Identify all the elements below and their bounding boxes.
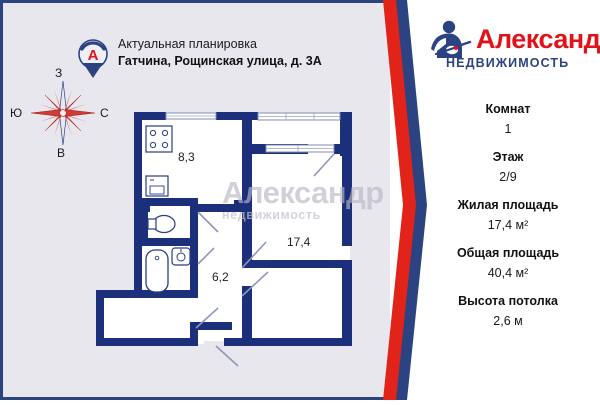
listing-header: Актуальная планировка Гатчина, Рощинская… [118,36,368,70]
spec-living-area: Жилая площадь 17,4 м² [420,196,596,235]
spec-label-floor: Этаж [420,148,596,167]
compass-rose-icon [30,80,96,146]
spec-label-ceiling-height: Высота потолка [420,292,596,311]
room-area-hall: 6,2 [212,270,229,284]
spec-label-living-area: Жилая площадь [420,196,596,215]
spec-value-ceiling-height: 2,6 м [420,311,596,331]
sink-icon [146,176,168,196]
logo-subtitle: НЕДВИЖИМОСТЬ [446,56,569,70]
bathtub-icon [146,250,168,292]
spec-value-floor: 2/9 [420,167,596,187]
washbasin-icon [172,248,190,265]
floor-plan-listing: A З Ю С В [0,0,600,400]
property-specs: Комнат 1 Этаж 2/9 Жилая площадь 17,4 м² … [420,100,596,340]
spec-value-total-area: 40,4 м² [420,263,596,283]
spec-total-area: Общая площадь 40,4 м² [420,244,596,283]
compass-label-west: Ю [10,106,22,120]
floor-plan: 8,3 17,4 6,2 [90,100,380,385]
spec-label-rooms: Комнат [420,100,596,119]
spec-ceiling-height: Высота потолка 2,6 м [420,292,596,331]
spec-value-rooms: 1 [420,119,596,139]
company-logo: Александр НЕДВИЖИМОСТЬ [424,18,590,80]
header-address: Гатчина, Рощинская улица, д. 3А [118,53,368,70]
room-area-kitchen: 8,3 [178,150,195,164]
compass-label-south: В [57,146,65,160]
room-area-living-room: 17,4 [287,235,310,249]
header-subtitle: Актуальная планировка [118,36,368,53]
spec-floor: Этаж 2/9 [420,148,596,187]
stove-icon [146,126,172,152]
spec-value-living-area: 17,4 м² [420,215,596,235]
spec-rooms: Комнат 1 [420,100,596,139]
logo-name: Александр [476,24,600,54]
compass-label-north: З [55,66,62,80]
spec-label-total-area: Общая площадь [420,244,596,263]
